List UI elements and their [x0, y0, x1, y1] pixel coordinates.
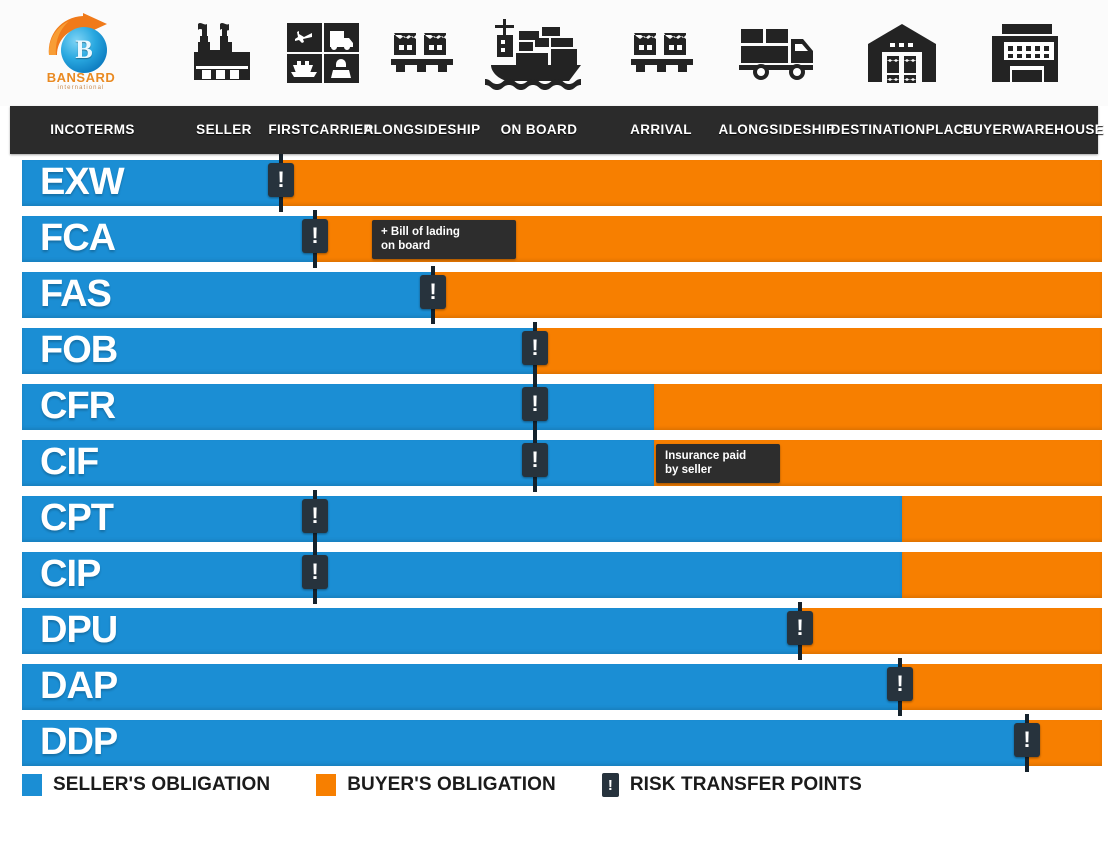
- risk-transfer-marker[interactable]: !: [313, 210, 317, 268]
- multimodal-transport-icon: [283, 4, 363, 102]
- risk-transfer-marker[interactable]: !: [313, 490, 317, 548]
- warehouse-icon: [864, 4, 940, 102]
- legend-risk-chip-icon: !: [602, 773, 619, 797]
- seller-obligation-bar: [22, 664, 900, 710]
- pallet-boxes-icon: [388, 4, 456, 102]
- risk-marker-chip: !: [787, 611, 813, 645]
- legend-item-seller-obligation: SELLER'S OBLIGATION: [22, 774, 270, 796]
- risk-marker-chip: !: [1014, 723, 1040, 757]
- risk-marker-chip: !: [268, 163, 294, 197]
- incoterm-row-fob[interactable]: FOB!: [22, 328, 1102, 374]
- pallet-boxes-icon-2: [628, 4, 696, 102]
- column-header-first_carrier: FIRSTCARRIER: [273, 106, 369, 154]
- risk-transfer-marker[interactable]: !: [279, 154, 283, 212]
- legend-item-buyer-obligation: BUYER'S OBLIGATION: [316, 774, 556, 796]
- column-header-incoterms: INCOTERMS: [10, 106, 175, 154]
- incoterm-code-label: FAS: [40, 275, 111, 313]
- risk-transfer-marker[interactable]: !: [898, 658, 902, 716]
- column-header-buyer_warehouse: BUYERWAREHOUSE: [969, 106, 1098, 154]
- risk-transfer-marker[interactable]: !: [1025, 714, 1029, 772]
- risk-marker-chip: !: [522, 387, 548, 421]
- incoterm-code-label: CIP: [40, 555, 100, 593]
- legend: SELLER'S OBLIGATIONBUYER'S OBLIGATION!RI…: [22, 770, 908, 800]
- buyer-obligation-bar: [900, 664, 1102, 710]
- risk-transfer-marker[interactable]: !: [533, 378, 537, 436]
- incoterm-row-cfr[interactable]: CFR!: [22, 384, 1102, 430]
- incoterm-row-cif[interactable]: CIFInsurance paid by seller!: [22, 440, 1102, 486]
- icon-strip: B BANSARD international: [0, 0, 1108, 106]
- seller-obligation-bar: [22, 440, 654, 486]
- column-header-arrival: ARRIVAL: [603, 106, 719, 154]
- risk-transfer-marker[interactable]: !: [533, 322, 537, 380]
- destination-building-icon: [988, 4, 1062, 102]
- logo-letter: B: [61, 27, 107, 73]
- row-annotation: Insurance paid by seller: [656, 444, 780, 483]
- seller-obligation-bar: [22, 720, 1027, 766]
- exclamation-icon: !: [531, 337, 538, 359]
- exclamation-icon: !: [896, 673, 903, 695]
- incoterm-row-ddp[interactable]: DDP!: [22, 720, 1102, 766]
- incoterm-code-label: FCA: [40, 219, 115, 257]
- column-header-line: SELLER: [196, 123, 252, 138]
- seller-obligation-bar: [22, 552, 902, 598]
- risk-marker-chip: !: [302, 499, 328, 533]
- risk-marker-chip: !: [522, 443, 548, 477]
- container-ship-icon: [479, 4, 591, 102]
- column-header-line: BUYER: [963, 123, 1012, 138]
- incoterm-code-label: DAP: [40, 667, 117, 705]
- legend-label: RISK TRANSFER POINTS: [630, 774, 862, 796]
- exclamation-icon: !: [531, 393, 538, 415]
- risk-marker-chip: !: [420, 275, 446, 309]
- column-header-alongside_ship_2: ALONGSIDESHIP: [719, 106, 835, 154]
- column-header-alongside_ship_1: ALONGSIDESHIP: [369, 106, 475, 154]
- buyer-obligation-bar: [800, 608, 1102, 654]
- exclamation-icon: !: [311, 505, 318, 527]
- incoterm-code-label: FOB: [40, 331, 117, 369]
- logo-mark: B: [39, 11, 123, 75]
- buyer-obligation-bar: [902, 496, 1102, 542]
- buyer-obligation-bar: [281, 160, 1102, 206]
- column-header-line: WAREHOUSE: [1012, 123, 1104, 138]
- buyer-obligation-bar: [433, 272, 1102, 318]
- exclamation-icon: !: [608, 778, 613, 793]
- bansard-logo: B BANSARD international: [22, 4, 140, 100]
- incoterm-code-label: DPU: [40, 611, 117, 649]
- exclamation-icon: !: [311, 225, 318, 247]
- column-header-line: ON BOARD: [501, 123, 578, 138]
- incoterm-code-label: EXW: [40, 163, 124, 201]
- risk-transfer-marker[interactable]: !: [798, 602, 802, 660]
- exclamation-icon: !: [531, 449, 538, 471]
- risk-transfer-marker[interactable]: !: [533, 434, 537, 492]
- incoterm-code-label: CPT: [40, 499, 113, 537]
- column-header-line: ALONGSIDE: [364, 123, 448, 138]
- legend-label: SELLER'S OBLIGATION: [53, 774, 270, 796]
- incoterms-chart: EXW!FCA+ Bill of lading on board!FAS!FOB…: [0, 160, 1108, 768]
- risk-transfer-marker[interactable]: !: [313, 546, 317, 604]
- column-header-on_board: ON BOARD: [475, 106, 603, 154]
- exclamation-icon: !: [311, 561, 318, 583]
- seller-obligation-bar: [22, 384, 654, 430]
- exclamation-icon: !: [277, 169, 284, 191]
- column-header-bar: INCOTERMSSELLERFIRSTCARRIERALONGSIDESHIP…: [10, 106, 1098, 154]
- legend-item-risk-transfer-point: !RISK TRANSFER POINTS: [602, 773, 862, 797]
- buyer-obligation-bar: [902, 552, 1102, 598]
- incoterm-row-cip[interactable]: CIP!: [22, 552, 1102, 598]
- risk-marker-chip: !: [302, 555, 328, 589]
- column-header-line: INCOTERMS: [50, 123, 135, 138]
- factory-icon: [186, 4, 258, 102]
- incoterm-row-fas[interactable]: FAS!: [22, 272, 1102, 318]
- incoterm-row-dap[interactable]: DAP!: [22, 664, 1102, 710]
- incoterm-code-label: DDP: [40, 723, 117, 761]
- incoterm-row-dpu[interactable]: DPU!: [22, 608, 1102, 654]
- incoterm-row-cpt[interactable]: CPT!: [22, 496, 1102, 542]
- column-header-line: FIRST: [268, 123, 309, 138]
- column-header-destination_place: DESTINATIONPLACE: [835, 106, 969, 154]
- exclamation-icon: !: [429, 281, 436, 303]
- incoterm-code-label: CIF: [40, 443, 98, 481]
- risk-marker-chip: !: [302, 219, 328, 253]
- legend-color-swatch: [316, 774, 336, 796]
- legend-label: BUYER'S OBLIGATION: [347, 774, 556, 796]
- column-header-line: DESTINATION: [831, 123, 926, 138]
- incoterm-code-label: CFR: [40, 387, 115, 425]
- column-header-seller: SELLER: [175, 106, 273, 154]
- risk-marker-chip: !: [522, 331, 548, 365]
- column-header-line: ARRIVAL: [630, 123, 692, 138]
- incoterm-row-fca[interactable]: FCA+ Bill of lading on board!: [22, 216, 1102, 262]
- buyer-obligation-bar: [535, 328, 1102, 374]
- risk-marker-chip: !: [887, 667, 913, 701]
- risk-transfer-marker[interactable]: !: [431, 266, 435, 324]
- logo-sphere: B: [61, 27, 107, 73]
- legend-color-swatch: [22, 774, 42, 796]
- delivery-truck-icon: [736, 4, 820, 102]
- exclamation-icon: !: [796, 617, 803, 639]
- row-annotation: + Bill of lading on board: [372, 220, 516, 259]
- seller-obligation-bar: [22, 496, 902, 542]
- seller-obligation-bar: [22, 608, 800, 654]
- exclamation-icon: !: [1023, 729, 1030, 751]
- logo-subword: international: [58, 84, 105, 94]
- column-header-line: ALONGSIDE: [719, 123, 803, 138]
- incoterm-row-exw[interactable]: EXW!: [22, 160, 1102, 206]
- buyer-obligation-bar: [654, 384, 1102, 430]
